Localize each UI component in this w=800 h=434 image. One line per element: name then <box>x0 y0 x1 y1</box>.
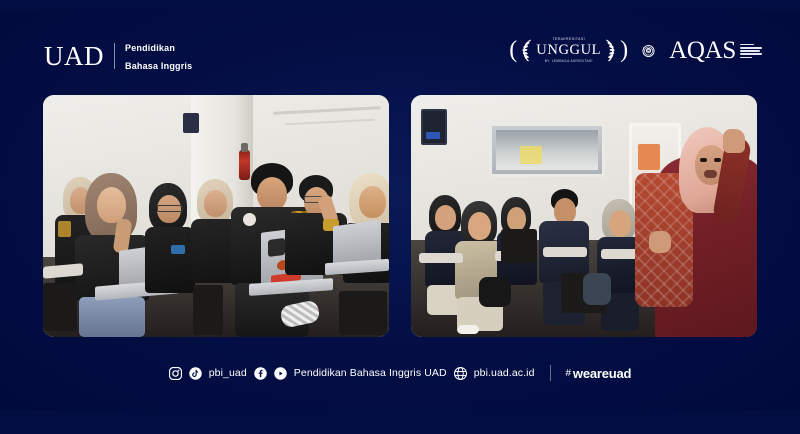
header: UAD Pendidikan Bahasa Inggris ( <box>0 0 800 92</box>
unggul-right-paren: ) <box>620 38 628 62</box>
hashtag-sign: # <box>566 368 571 379</box>
legs-jeans <box>79 297 145 337</box>
footer: pbi_uad Pendidikan Bahasa Inggris UAD <box>0 337 800 434</box>
glasses-icon <box>157 205 183 212</box>
speaker-mouth <box>704 170 717 178</box>
backpack <box>583 273 611 305</box>
youtube-icon[interactable] <box>274 367 287 380</box>
laurel-right-icon <box>604 44 617 57</box>
laurel-left-icon <box>520 44 533 57</box>
brand-mark-uad: UAD <box>44 43 104 70</box>
speaker-gesturing-hand <box>649 231 671 253</box>
face <box>204 190 227 217</box>
unggul-badge: ( TERAKREDITASI <box>509 38 628 63</box>
window-notice <box>520 146 542 164</box>
poster-canvas: UAD Pendidikan Bahasa Inggris ( <box>0 0 800 434</box>
brand-subtitle-line1: Pendidikan <box>125 43 175 53</box>
brand-divider <box>114 43 115 69</box>
jacket-patch <box>243 213 256 226</box>
wall-poster <box>421 109 447 145</box>
unggul-left-paren: ( <box>509 38 517 62</box>
phone <box>171 245 185 254</box>
accreditation-badges: ( TERAKREDITASI <box>509 38 762 63</box>
uniform-accent <box>58 221 71 237</box>
aqas-subtext-lines <box>740 43 762 58</box>
unggul-main-text: UNGGUL <box>536 43 601 58</box>
chair <box>501 229 537 263</box>
backpack <box>479 277 511 307</box>
unggul-text-block: TERAKREDITASI UNGGUL BY. LEMBAGA AKREDIT… <box>536 38 601 63</box>
aqas-wordmark: AQAS <box>669 38 736 63</box>
chair <box>193 285 223 335</box>
instagram-icon[interactable] <box>169 367 182 380</box>
face <box>97 187 126 223</box>
interior-window <box>489 123 605 177</box>
footer-handle[interactable]: pbi_uad <box>209 367 247 379</box>
face <box>507 207 526 231</box>
window-glass <box>496 130 598 170</box>
photo-left[interactable] <box>43 95 389 337</box>
face <box>468 212 491 240</box>
speaker-pointing-hand <box>723 129 745 153</box>
uad-seal-icon <box>642 44 655 57</box>
chair <box>339 291 387 335</box>
tiktok-icon[interactable] <box>189 367 202 380</box>
unggul-top-text: TERAKREDITASI <box>536 38 601 41</box>
brand-lockup: UAD Pendidikan Bahasa Inggris <box>44 38 192 74</box>
shoe <box>457 325 479 334</box>
wall-sign <box>183 113 199 133</box>
chair <box>43 283 77 331</box>
face <box>435 205 456 230</box>
speaker-lecturer <box>627 127 757 337</box>
speaker-eye <box>700 158 707 162</box>
footer-contact-row: pbi_uad Pendidikan Bahasa Inggris UAD <box>169 365 632 381</box>
brand-subtitle-line2: Bahasa Inggris <box>125 61 192 71</box>
tablet-arm-desk <box>419 253 463 263</box>
globe-icon[interactable] <box>454 367 467 380</box>
hashtag-text: weareuad <box>573 366 631 381</box>
speaker-eye <box>714 158 721 162</box>
photo-right[interactable] <box>411 95 757 337</box>
footer-page-name[interactable]: Pendidikan Bahasa Inggris UAD <box>294 367 447 379</box>
brand-subtitle: Pendidikan Bahasa Inggris <box>125 38 192 74</box>
tablet-arm-desk <box>543 247 587 257</box>
face <box>359 186 386 218</box>
facebook-icon[interactable] <box>254 367 267 380</box>
footer-website[interactable]: pbi.uad.ac.id <box>474 367 535 379</box>
torso <box>145 227 195 293</box>
aqas-badge: AQAS <box>669 38 762 63</box>
unggul-bottom-text: BY. LEMBAGA AKREDITASI <box>536 60 601 63</box>
footer-divider <box>550 365 551 381</box>
footer-hashtag: # weareuad <box>566 366 632 381</box>
photo-gallery <box>43 95 757 337</box>
